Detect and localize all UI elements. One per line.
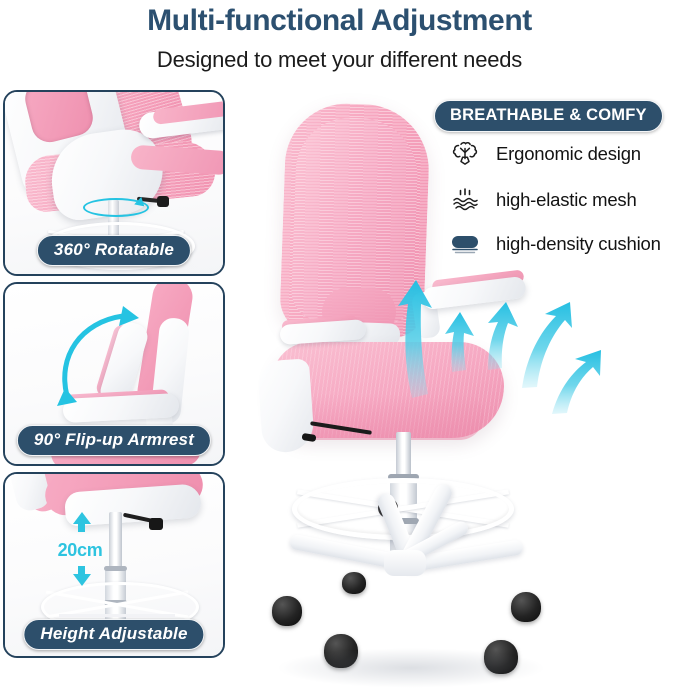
feature-label: Ergonomic design [496,143,641,165]
cushion-icon [448,228,482,260]
base-hub [384,550,426,576]
header: Multi-functional Adjustment Designed to … [0,0,679,88]
caster-wheel [511,592,541,622]
panel-label-rotatable: 360° Rotatable [37,235,191,266]
feature-label: high-elastic mesh [496,189,637,211]
height-lever-knob [149,518,163,530]
feature-panel-rotatable: 360° Rotatable [3,90,225,276]
arrow-up-shaft [78,523,85,532]
caster-wheel [272,596,302,626]
feature-item-mesh: high-elastic mesh [448,184,637,216]
page-subtitle: Designed to meet your different needs [0,38,679,73]
arrow-down-icon [73,574,91,586]
panel-label-armrest: 90° Flip-up Armrest [17,425,211,456]
features-badge: BREATHABLE & COMFY [434,100,663,132]
tilt-lever-knob [157,196,169,207]
caster-wheel [342,572,366,594]
cotton-boll-icon [448,138,482,170]
airflow-waves-icon [448,184,482,216]
feature-label: high-density cushion [496,233,661,255]
feature-item-ergonomic: Ergonomic design [448,138,641,170]
feature-panel-height: 20cm Height Adjustable [3,472,225,658]
panel-label-height: Height Adjustable [23,619,204,650]
floor-shadow [276,648,546,688]
page-title: Multi-functional Adjustment [0,0,679,38]
feature-item-cushion: high-density cushion [448,228,661,260]
height-measurement-annotation: 20cm [47,512,113,594]
height-measurement-label: 20cm [47,540,113,561]
feature-panel-armrest: 90° Flip-up Armrest [3,282,225,466]
curved-double-arrow-icon [41,302,157,418]
main-product-image [236,92,679,673]
